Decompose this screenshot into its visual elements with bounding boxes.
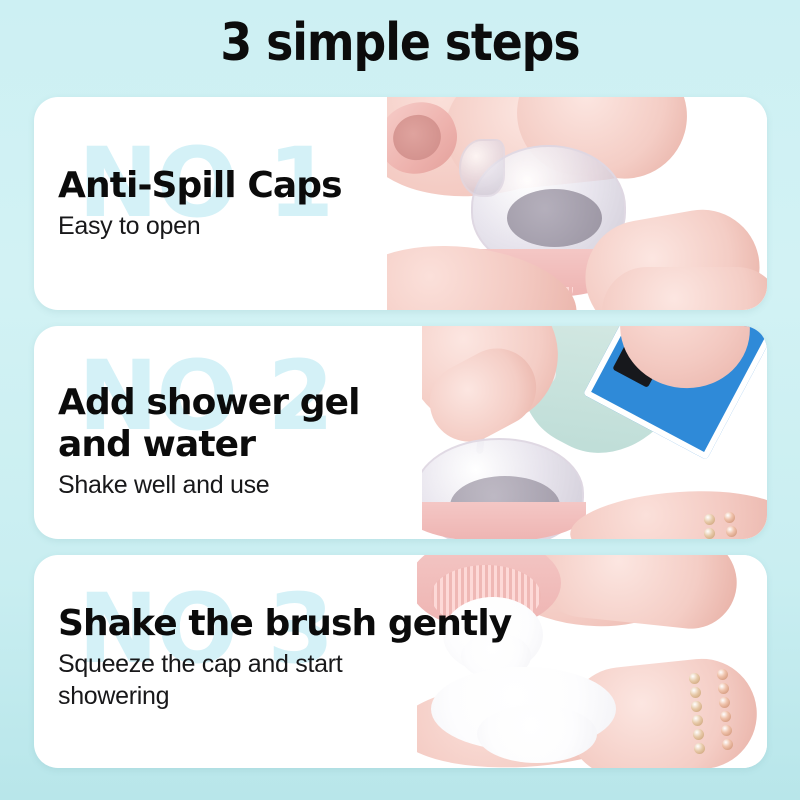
step-3-subtitle: Squeeze the cap and start showering [58, 649, 511, 712]
step-card-3[interactable]: NO 3 Shake the brush gently Squeeze the … [34, 555, 767, 768]
step-1-subtitle: Easy to open [58, 211, 342, 243]
step-card-2[interactable]: INO ACID HAMPOO [34, 326, 767, 539]
step-2-subtitle: Shake well and use [58, 470, 360, 502]
step-card-1[interactable]: NO 1 Anti-Spill Caps Easy to open [34, 97, 767, 310]
page-title: 3 simple steps [48, 13, 752, 73]
step-2-photo: INO ACID HAMPOO [422, 326, 767, 539]
step-3-headline: Shake the brush gently [58, 603, 511, 645]
step-1-photo [387, 97, 767, 310]
steps-list: NO 1 Anti-Spill Caps Easy to open INO AC… [34, 97, 767, 784]
step-1-headline: Anti-Spill Caps [58, 165, 342, 207]
step-2-headline: Add shower gel and water [58, 382, 360, 466]
